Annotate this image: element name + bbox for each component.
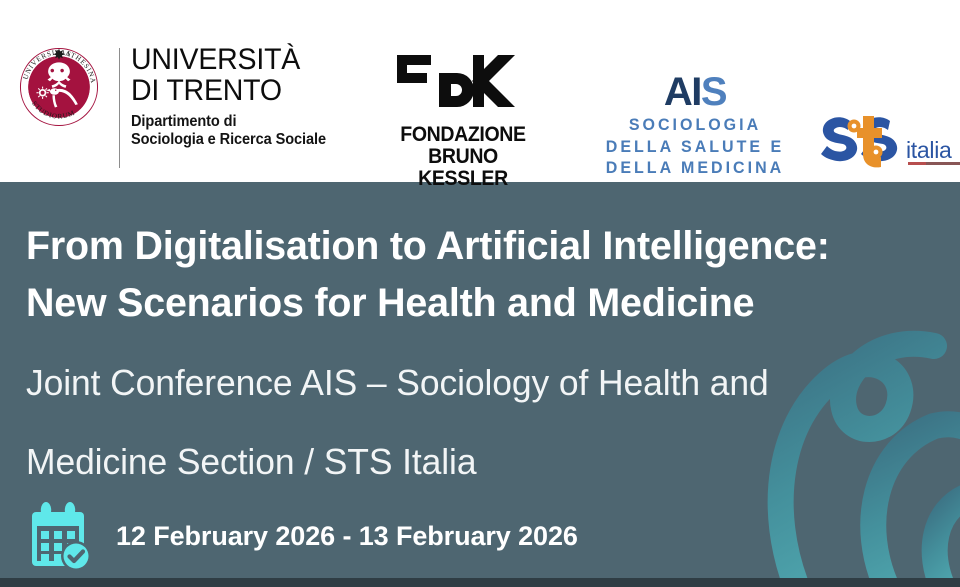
university-name-line2: DI TRENTO — [131, 75, 321, 106]
ais-subtitle: SOCIOLOGIA DELLA SALUTE E DELLA MEDICINA — [583, 115, 806, 180]
calendar-check-icon — [26, 500, 94, 572]
bottom-strip — [0, 578, 960, 587]
ais-subtitle-line2: DELLA SALUTE E — [583, 137, 806, 159]
logo-ais-sociology: AIS SOCIOLOGIA DELLA SALUTE E DELLA MEDI… — [580, 72, 810, 172]
main-panel: From Digitalisation to Artificial Intell… — [0, 182, 960, 578]
fbk-name-line2: BRUNO KESSLER — [384, 146, 542, 190]
sts-italia-logo-icon — [820, 112, 912, 170]
sts-microtext — [908, 162, 960, 165]
fbk-name: FONDAZIONE BRUNO KESSLER — [384, 124, 542, 190]
ais-wordmark: AIS — [580, 72, 810, 112]
university-name-line1: UNIVERSITÀ — [131, 44, 321, 75]
logo-sts-italia: italia — [820, 112, 960, 174]
ais-wordmark-ai: AI — [664, 70, 701, 114]
logo-fondazione-bruno-kessler: FONDAZIONE BRUNO KESSLER — [378, 52, 548, 168]
sts-italia-label: italia — [906, 139, 952, 162]
department-name: Dipartimento di Sociologia e Ricerca Soc… — [131, 113, 319, 149]
conference-title-line2: New Scenarios for Health and Medicine — [26, 275, 946, 332]
ais-subtitle-line1: SOCIOLOGIA — [583, 115, 806, 137]
logo-university-of-trento: UNIVERSITAS ATHESINA STUDIORUM UNIVERSIT… — [18, 44, 330, 168]
conference-subtitle-line2: Medicine Section / STS Italia — [26, 433, 946, 490]
conference-subtitle-line1: Joint Conference AIS – Sociology of Heal… — [26, 354, 946, 411]
conference-banner: UNIVERSITAS ATHESINA STUDIORUM UNIVERSIT… — [0, 0, 960, 587]
panel-text-content: From Digitalisation to Artificial Intell… — [0, 182, 960, 490]
university-seal-icon: UNIVERSITAS ATHESINA STUDIORUM — [18, 46, 100, 128]
conference-title-line1: From Digitalisation to Artificial Intell… — [26, 218, 946, 275]
ais-wordmark-s: S — [701, 70, 726, 114]
logo-divider — [119, 48, 120, 168]
fbk-name-line1: FONDAZIONE — [384, 124, 542, 146]
department-line1: Dipartimento di — [131, 113, 319, 131]
department-line2: Sociologia e Ricerca Sociale — [131, 131, 319, 149]
fbk-monogram-icon — [395, 52, 531, 116]
logo-header-band: UNIVERSITAS ATHESINA STUDIORUM UNIVERSIT… — [0, 0, 960, 182]
conference-date-text: 12 February 2026 - 13 February 2026 — [116, 521, 578, 551]
conference-date-row: 12 February 2026 - 13 February 2026 — [26, 500, 578, 572]
ais-subtitle-line3: DELLA MEDICINA — [583, 158, 806, 180]
university-name-block: UNIVERSITÀ DI TRENTO Dipartimento di Soc… — [131, 44, 331, 149]
